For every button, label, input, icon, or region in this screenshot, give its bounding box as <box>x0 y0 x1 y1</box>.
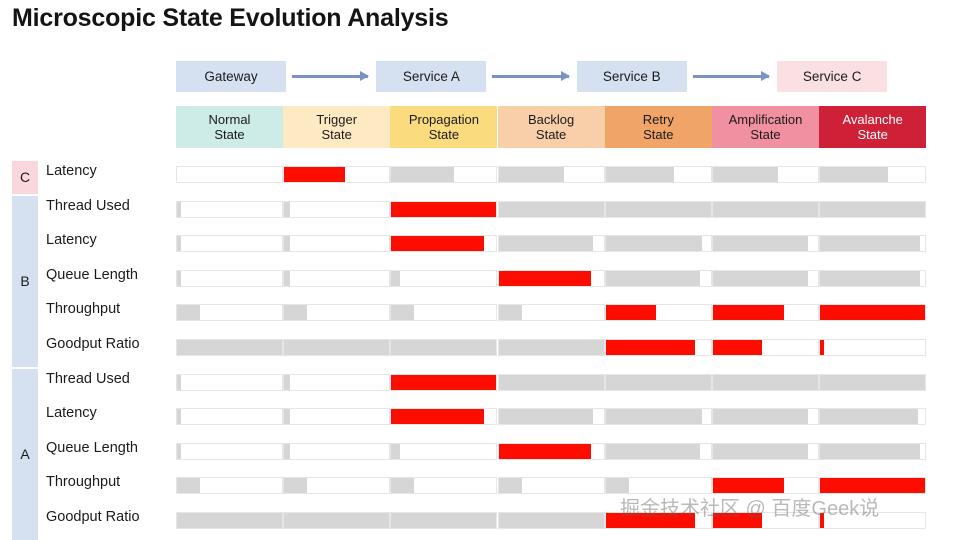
bar-cell <box>498 374 605 391</box>
bar-fill <box>820 236 920 251</box>
flow-node-label: Service B <box>603 69 661 84</box>
bar-cell <box>283 339 390 356</box>
bar-fill <box>391 271 399 286</box>
bar-cell <box>819 443 926 460</box>
bar-fill <box>499 444 591 459</box>
row-label-latency: Latency <box>46 232 97 248</box>
state-header-avalanche[interactable]: AvalancheState <box>819 106 926 148</box>
bar-fill <box>391 375 496 390</box>
bar-fill <box>177 202 181 217</box>
bar-fill <box>713 478 784 493</box>
bar-cell <box>712 512 819 529</box>
bar-cell <box>712 166 819 183</box>
bar-fill <box>713 513 762 528</box>
bar-fill <box>713 236 808 251</box>
bar-fill <box>499 478 522 493</box>
row-label-latency: Latency <box>46 163 97 179</box>
bar-cell <box>390 374 497 391</box>
state-header-line2: State <box>214 127 244 142</box>
bar-cell <box>605 512 712 529</box>
bar-cell <box>498 477 605 494</box>
bar-fill <box>606 444 701 459</box>
bar-fill <box>284 409 290 424</box>
bar-fill <box>713 340 762 355</box>
bar-cell <box>498 512 605 529</box>
bar-fill <box>284 202 290 217</box>
bar-cell <box>390 270 497 287</box>
bar-cell <box>176 408 283 425</box>
group-badge-a: A <box>12 369 38 540</box>
bar-cell <box>712 339 819 356</box>
bar-cell <box>498 270 605 287</box>
row-label-queue-length: Queue Length <box>46 267 138 283</box>
row-label-thread-used: Thread Used <box>46 198 130 214</box>
bar-fill <box>499 305 522 320</box>
bar-fill <box>820 478 925 493</box>
bar-cell <box>819 477 926 494</box>
group-badge-c: C <box>12 161 38 194</box>
row-label-thread-used: Thread Used <box>46 371 130 387</box>
bar-cell <box>819 408 926 425</box>
state-header-line1: Avalanche <box>842 112 902 127</box>
bar-fill <box>499 513 604 528</box>
bar-cell <box>283 235 390 252</box>
bar-fill <box>606 513 695 528</box>
bar-cell <box>819 235 926 252</box>
bar-fill <box>284 271 290 286</box>
state-header-line2: State <box>750 127 780 142</box>
bar-fill <box>606 340 695 355</box>
bar-fill <box>820 513 824 528</box>
bar-cell <box>283 443 390 460</box>
bar-fill <box>284 236 290 251</box>
bar-fill <box>499 409 594 424</box>
bar-cell <box>176 477 283 494</box>
bar-fill <box>820 444 920 459</box>
bar-fill <box>713 409 808 424</box>
bar-cell <box>498 166 605 183</box>
bar-cell <box>712 408 819 425</box>
bar-cell <box>712 270 819 287</box>
bar-fill <box>499 236 594 251</box>
bar-fill <box>713 444 808 459</box>
bar-cell <box>819 270 926 287</box>
state-header-retry[interactable]: RetryState <box>605 106 712 148</box>
bar-cell <box>712 374 819 391</box>
bar-fill <box>177 444 181 459</box>
state-header-line1: Normal <box>209 112 251 127</box>
bar-cell <box>176 201 283 218</box>
bar-cell <box>605 235 712 252</box>
bar-cell <box>390 201 497 218</box>
bar-fill <box>284 478 307 493</box>
flow-arrow-1 <box>292 75 368 78</box>
bar-cell <box>390 408 497 425</box>
flow-node-label: Service A <box>403 69 460 84</box>
bar-cell <box>819 304 926 321</box>
bar-cell <box>176 443 283 460</box>
bar-fill <box>820 167 888 182</box>
flow-node-label: Service C <box>803 69 862 84</box>
bar-cell <box>498 339 605 356</box>
bar-fill <box>177 340 282 355</box>
bar-cell <box>498 235 605 252</box>
state-evolution-matrix: GatewayService AService BService CNormal… <box>176 0 926 540</box>
bar-cell <box>605 304 712 321</box>
bar-cell <box>283 270 390 287</box>
bar-cell <box>819 512 926 529</box>
flow-node-service-c[interactable]: Service C <box>777 61 887 92</box>
flow-node-service-a[interactable]: Service A <box>376 61 486 92</box>
bar-cell <box>390 304 497 321</box>
bar-fill <box>713 167 778 182</box>
bar-fill <box>284 513 389 528</box>
bar-fill <box>391 305 414 320</box>
flow-node-label: Gateway <box>204 69 257 84</box>
bar-fill <box>606 236 703 251</box>
bar-cell <box>390 166 497 183</box>
bar-cell <box>498 304 605 321</box>
bar-cell <box>605 443 712 460</box>
bar-cell <box>605 166 712 183</box>
bar-fill <box>713 271 808 286</box>
bar-fill <box>284 375 290 390</box>
bar-fill <box>284 305 307 320</box>
bar-cell <box>176 339 283 356</box>
bar-fill <box>177 375 181 390</box>
group-badge-label: C <box>20 169 30 185</box>
bar-cell <box>283 477 390 494</box>
row-label-goodput-ratio: Goodput Ratio <box>46 509 140 525</box>
bar-fill <box>284 167 345 182</box>
bar-cell <box>176 512 283 529</box>
state-header-line2: State <box>643 127 673 142</box>
bar-cell <box>283 166 390 183</box>
state-header-line1: Backlog <box>528 112 574 127</box>
bar-cell <box>712 235 819 252</box>
bar-fill <box>820 305 925 320</box>
bar-cell <box>605 477 712 494</box>
bar-fill <box>820 202 925 217</box>
bar-fill <box>606 271 701 286</box>
bar-cell <box>176 235 283 252</box>
bar-fill <box>499 340 604 355</box>
bar-cell <box>176 166 283 183</box>
bar-fill <box>713 202 818 217</box>
row-label-throughput: Throughput <box>46 474 120 490</box>
bar-cell <box>712 304 819 321</box>
bar-fill <box>499 167 564 182</box>
bar-fill <box>177 478 200 493</box>
bar-fill <box>820 271 920 286</box>
state-header-line1: Amplification <box>729 112 803 127</box>
state-header-amplification[interactable]: AmplificationState <box>712 106 819 148</box>
bar-cell <box>819 166 926 183</box>
bar-cell <box>390 443 497 460</box>
bar-fill <box>606 202 711 217</box>
bar-fill <box>177 305 200 320</box>
bar-fill <box>606 409 703 424</box>
bar-cell <box>176 374 283 391</box>
state-header-line2: State <box>322 127 352 142</box>
bar-cell <box>605 339 712 356</box>
bar-fill <box>284 444 290 459</box>
state-header-line2: State <box>858 127 888 142</box>
bar-cell <box>176 270 283 287</box>
bar-cell <box>283 512 390 529</box>
bar-fill <box>713 375 818 390</box>
state-header-line2: State <box>536 127 566 142</box>
bar-cell <box>498 201 605 218</box>
bar-cell <box>605 408 712 425</box>
row-label-queue-length: Queue Length <box>46 440 138 456</box>
row-label-throughput: Throughput <box>46 301 120 317</box>
bar-cell <box>819 339 926 356</box>
flow-arrow-2 <box>492 75 568 78</box>
state-header-line1: Retry <box>643 112 674 127</box>
bar-fill <box>499 202 604 217</box>
bar-fill <box>284 340 389 355</box>
state-header-trigger[interactable]: TriggerState <box>283 106 390 148</box>
bar-fill <box>606 375 711 390</box>
bar-fill <box>713 305 784 320</box>
bar-cell <box>605 374 712 391</box>
bar-fill <box>391 236 483 251</box>
flow-node-gateway[interactable]: Gateway <box>176 61 286 92</box>
bar-fill <box>177 513 282 528</box>
bar-cell <box>283 408 390 425</box>
bar-fill <box>391 513 496 528</box>
bar-fill <box>177 271 181 286</box>
bar-fill <box>606 167 674 182</box>
state-header-propagation[interactable]: PropagationState <box>390 106 497 148</box>
bar-cell <box>283 374 390 391</box>
bar-cell <box>819 201 926 218</box>
bar-fill <box>499 375 604 390</box>
bar-cell <box>498 408 605 425</box>
bar-cell <box>498 443 605 460</box>
bar-cell <box>819 374 926 391</box>
bar-fill <box>820 375 925 390</box>
bar-fill <box>391 409 483 424</box>
bar-fill <box>391 167 454 182</box>
group-badge-b: B <box>12 196 38 367</box>
state-header-normal[interactable]: NormalState <box>176 106 283 148</box>
bar-fill <box>177 236 181 251</box>
flow-node-service-b[interactable]: Service B <box>577 61 687 92</box>
bar-fill <box>391 478 414 493</box>
state-header-line1: Propagation <box>409 112 479 127</box>
bar-fill <box>820 409 918 424</box>
bar-cell <box>605 270 712 287</box>
bar-fill <box>606 305 656 320</box>
row-label-latency: Latency <box>46 405 97 421</box>
bar-fill <box>177 409 181 424</box>
bar-fill <box>391 444 399 459</box>
bar-fill <box>499 271 591 286</box>
bar-cell <box>176 304 283 321</box>
bar-cell <box>283 201 390 218</box>
bar-fill <box>820 340 824 355</box>
bar-fill <box>391 340 496 355</box>
bar-cell <box>390 339 497 356</box>
bar-cell <box>712 201 819 218</box>
bar-cell <box>605 201 712 218</box>
bar-cell <box>390 512 497 529</box>
state-header-line2: State <box>429 127 459 142</box>
state-header-line1: Trigger <box>316 112 357 127</box>
state-header-backlog[interactable]: BacklogState <box>498 106 605 148</box>
bar-fill <box>606 478 629 493</box>
bar-cell <box>390 477 497 494</box>
flow-arrow-3 <box>693 75 769 78</box>
group-badge-label: A <box>20 446 29 462</box>
bar-cell <box>712 443 819 460</box>
row-label-goodput-ratio: Goodput Ratio <box>46 336 140 352</box>
bar-cell <box>712 477 819 494</box>
bar-fill <box>391 202 496 217</box>
bar-cell <box>390 235 497 252</box>
group-badge-label: B <box>20 273 29 289</box>
bar-cell <box>283 304 390 321</box>
